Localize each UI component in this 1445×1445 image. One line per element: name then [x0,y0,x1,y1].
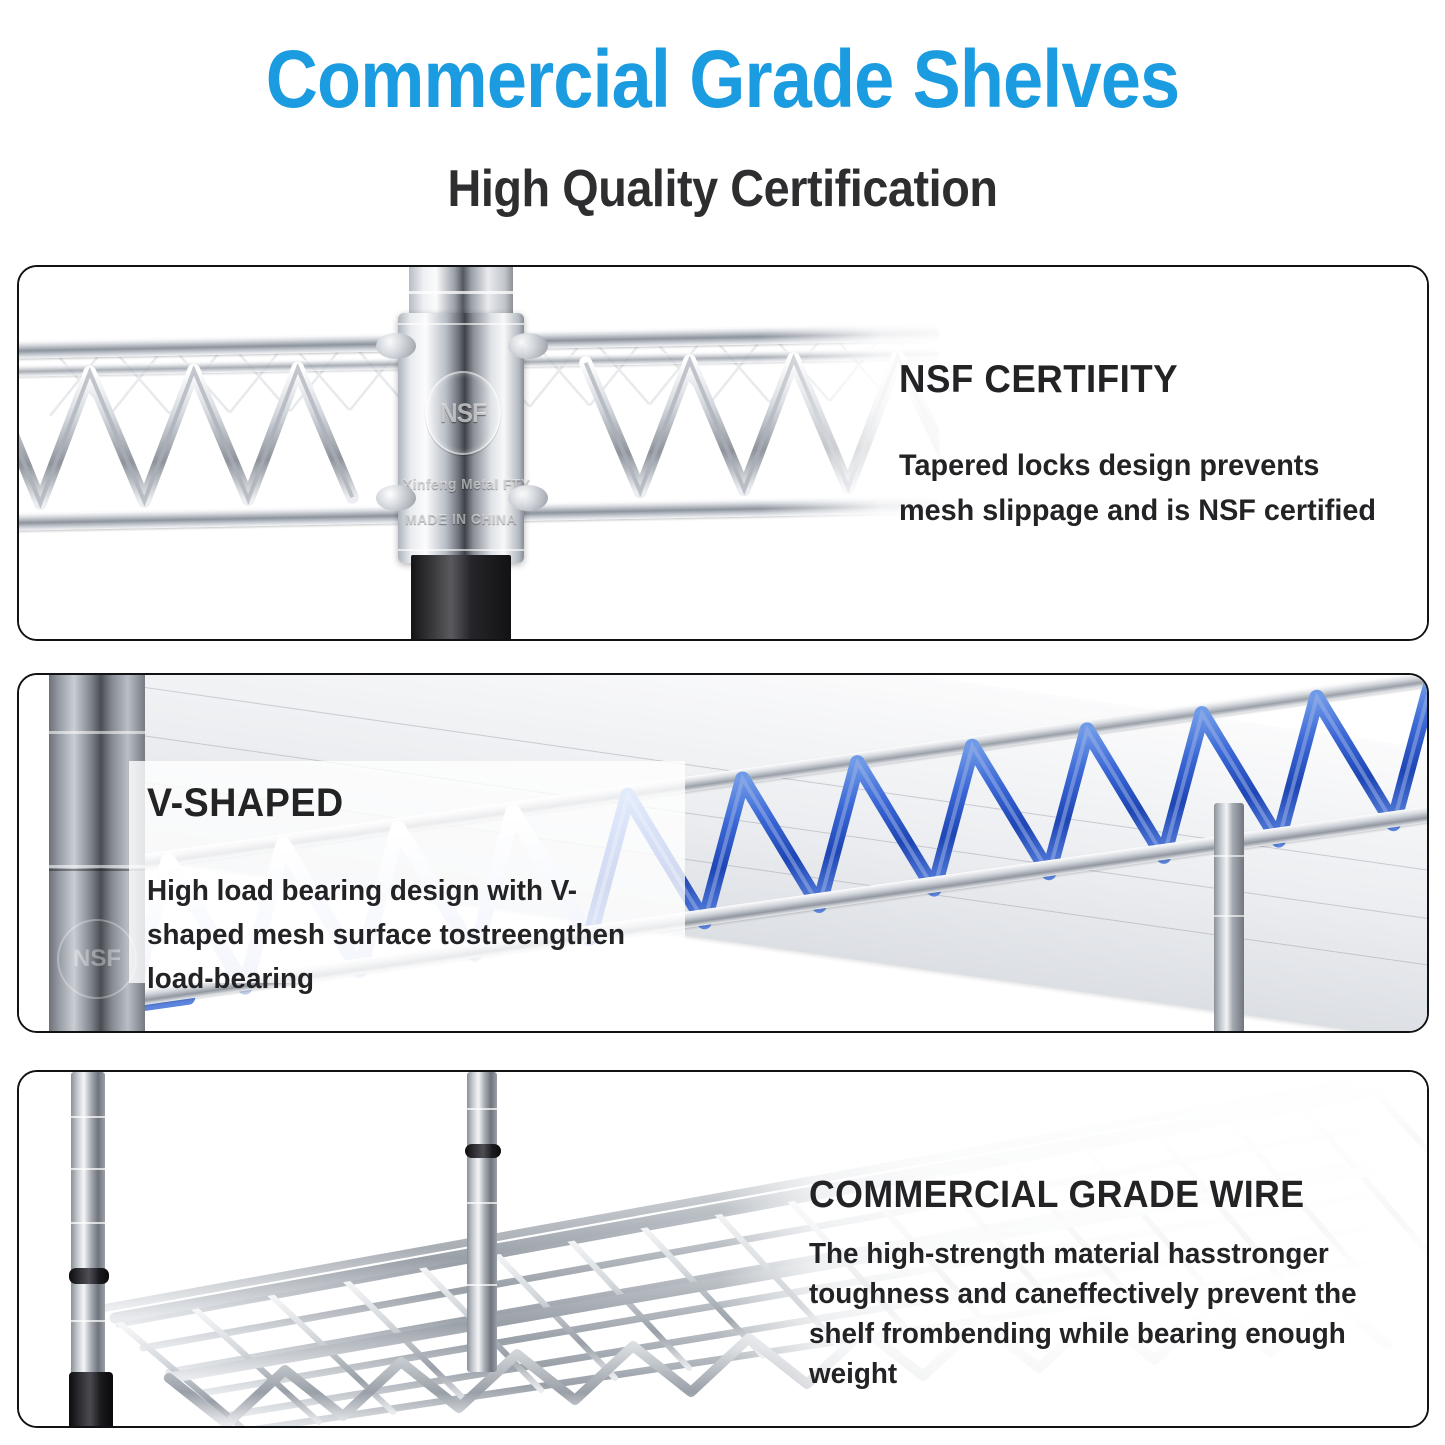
nsf-logo-icon: NSF [425,371,501,455]
nsf-logo-icon: NSF [57,919,137,999]
feature-panel-commercial-wire: COMMERCIAL GRADE WIRE The high-strength … [17,1070,1429,1428]
panel-2-text-block: V-SHAPED High load bearing design with V… [147,779,687,1001]
infographic-page: Commercial Grade Shelves High Quality Ce… [0,0,1445,1445]
panel-1-body: Tapered locks design prevents mesh slipp… [899,443,1389,533]
header: Commercial Grade Shelves High Quality Ce… [0,0,1445,250]
panel-3-heading: COMMERCIAL GRADE WIRE [809,1172,1392,1218]
black-collar-ring-back [465,1144,501,1158]
vertical-post-right [1214,803,1244,1031]
corner-post-assembly: NSF Xinfeng Metal FTY MADE IN CHINA [368,267,554,639]
feature-panel-nsf: NSF Xinfeng Metal FTY MADE IN CHINA NSF … [17,265,1429,641]
feature-panel-v-shaped: NSF V-SHAPED High load bearing design wi… [17,673,1429,1033]
panel-2-heading: V-SHAPED [147,779,655,827]
panel-1-heading: NSF CERTIFITY [899,357,1378,403]
page-subtitle: High Quality Certification [72,157,1373,221]
nsf-tapered-lock-collar: NSF Xinfeng Metal FTY MADE IN CHINA [398,313,524,563]
panel-3-text-block: COMMERCIAL GRADE WIRE The high-strength … [809,1172,1429,1394]
post-foot-cap [69,1372,113,1426]
panel-2-body: High load bearing design with V-shaped m… [147,869,665,1001]
page-title: Commercial Grade Shelves [87,34,1359,126]
embossed-origin: MADE IN CHINA [403,511,519,528]
black-post-section [411,555,511,639]
panel-1-text-block: NSF CERTIFITY Tapered locks design preve… [899,357,1409,533]
vertical-post-back [467,1072,497,1372]
panel-3-body: The high-strength material hasstronger t… [809,1234,1404,1394]
embossed-manufacturer: Xinfeng Metal FTY [403,476,519,493]
black-collar-ring-front [69,1268,109,1284]
